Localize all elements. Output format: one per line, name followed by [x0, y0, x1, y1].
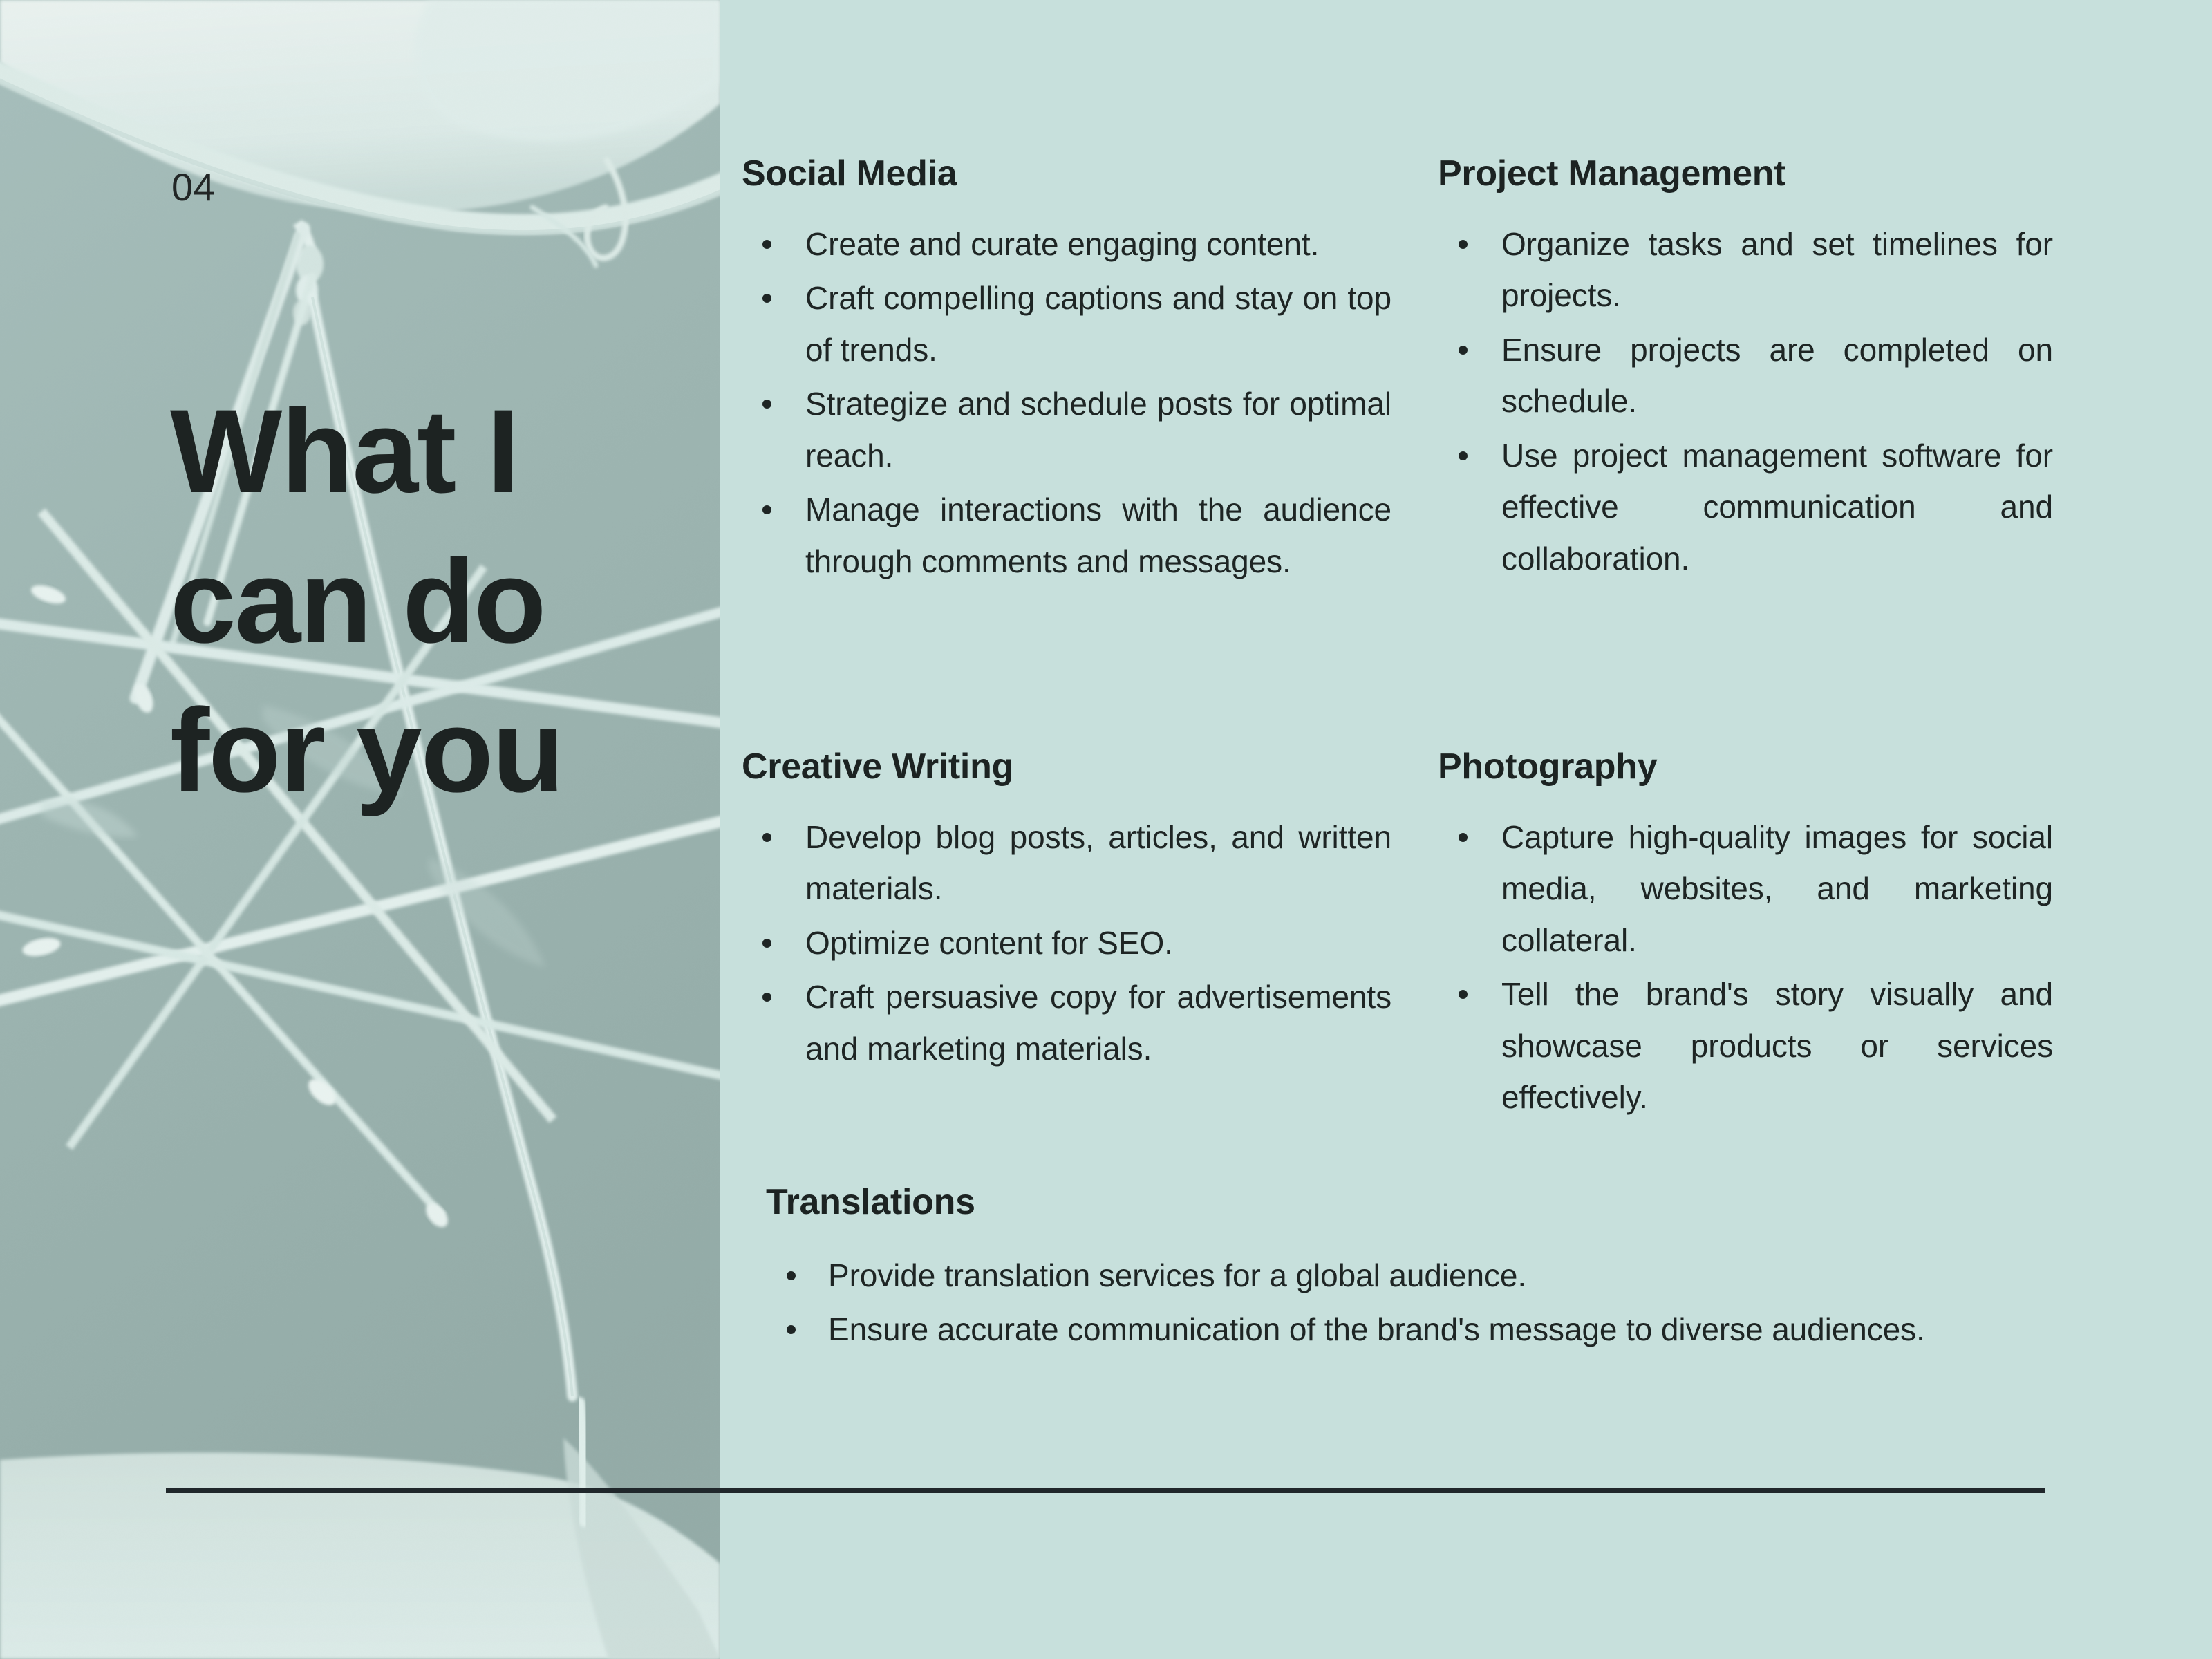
title-line-2: can do [170, 527, 720, 677]
bullet-list-photography: Capture high-quality images for social m… [1438, 812, 2053, 1123]
bullet-list-creative-writing: Develop blog posts, articles, and writte… [742, 812, 1391, 1075]
photo-panel: 04 What I can do for you [0, 0, 720, 1659]
list-item: Tell the brand's story visually and show… [1438, 968, 2053, 1123]
section-translations: Translations Provide translation service… [766, 1182, 2052, 1358]
list-item: Ensure projects are completed on schedul… [1438, 324, 2053, 427]
section-heading-translations: Translations [766, 1182, 2052, 1224]
bullet-list-social-media: Create and curate engaging content. Craf… [742, 218, 1391, 588]
content-area: Social Media Create and curate engaging … [720, 0, 2212, 1659]
list-item: Strategize and schedule posts for optima… [742, 378, 1391, 481]
section-creative-writing: Creative Writing Develop blog posts, art… [742, 747, 1391, 1077]
section-heading-creative-writing: Creative Writing [742, 747, 1391, 788]
title-line-3: for you [170, 676, 720, 826]
section-photography: Photography Capture high-quality images … [1438, 747, 2053, 1126]
list-item: Provide translation services for a globa… [766, 1250, 2052, 1302]
list-item: Manage interactions with the audience th… [742, 484, 1391, 587]
section-project-management: Project Management Organize tasks and se… [1438, 153, 2053, 587]
list-item: Craft compelling captions and stay on to… [742, 272, 1391, 375]
section-social-media: Social Media Create and curate engaging … [742, 153, 1391, 590]
list-item: Optimize content for SEO. [742, 917, 1391, 969]
list-item: Create and curate engaging content. [742, 218, 1391, 270]
section-heading-project-management: Project Management [1438, 153, 2053, 195]
list-item: Organize tasks and set timelines for pro… [1438, 218, 2053, 321]
list-item: Ensure accurate communication of the bra… [766, 1304, 2052, 1356]
slide-canvas: 04 What I can do for you Social Media Cr… [0, 0, 2212, 1659]
list-item: Craft persuasive copy for advertisements… [742, 971, 1391, 1074]
title-line-1: What I [170, 377, 720, 527]
parasol-underside-photo [0, 0, 720, 1659]
page-number: 04 [171, 168, 215, 207]
list-item: Develop blog posts, articles, and writte… [742, 812, 1391, 915]
section-heading-photography: Photography [1438, 747, 2053, 788]
section-heading-social-media: Social Media [742, 153, 1391, 195]
list-item: Capture high-quality images for social m… [1438, 812, 2053, 966]
page-title: What I can do for you [170, 377, 720, 826]
list-item: Use project management software for effe… [1438, 430, 2053, 585]
bullet-list-project-management: Organize tasks and set timelines for pro… [1438, 218, 2053, 585]
bullet-list-translations: Provide translation services for a globa… [766, 1250, 2052, 1356]
bottom-divider [166, 1488, 2045, 1493]
